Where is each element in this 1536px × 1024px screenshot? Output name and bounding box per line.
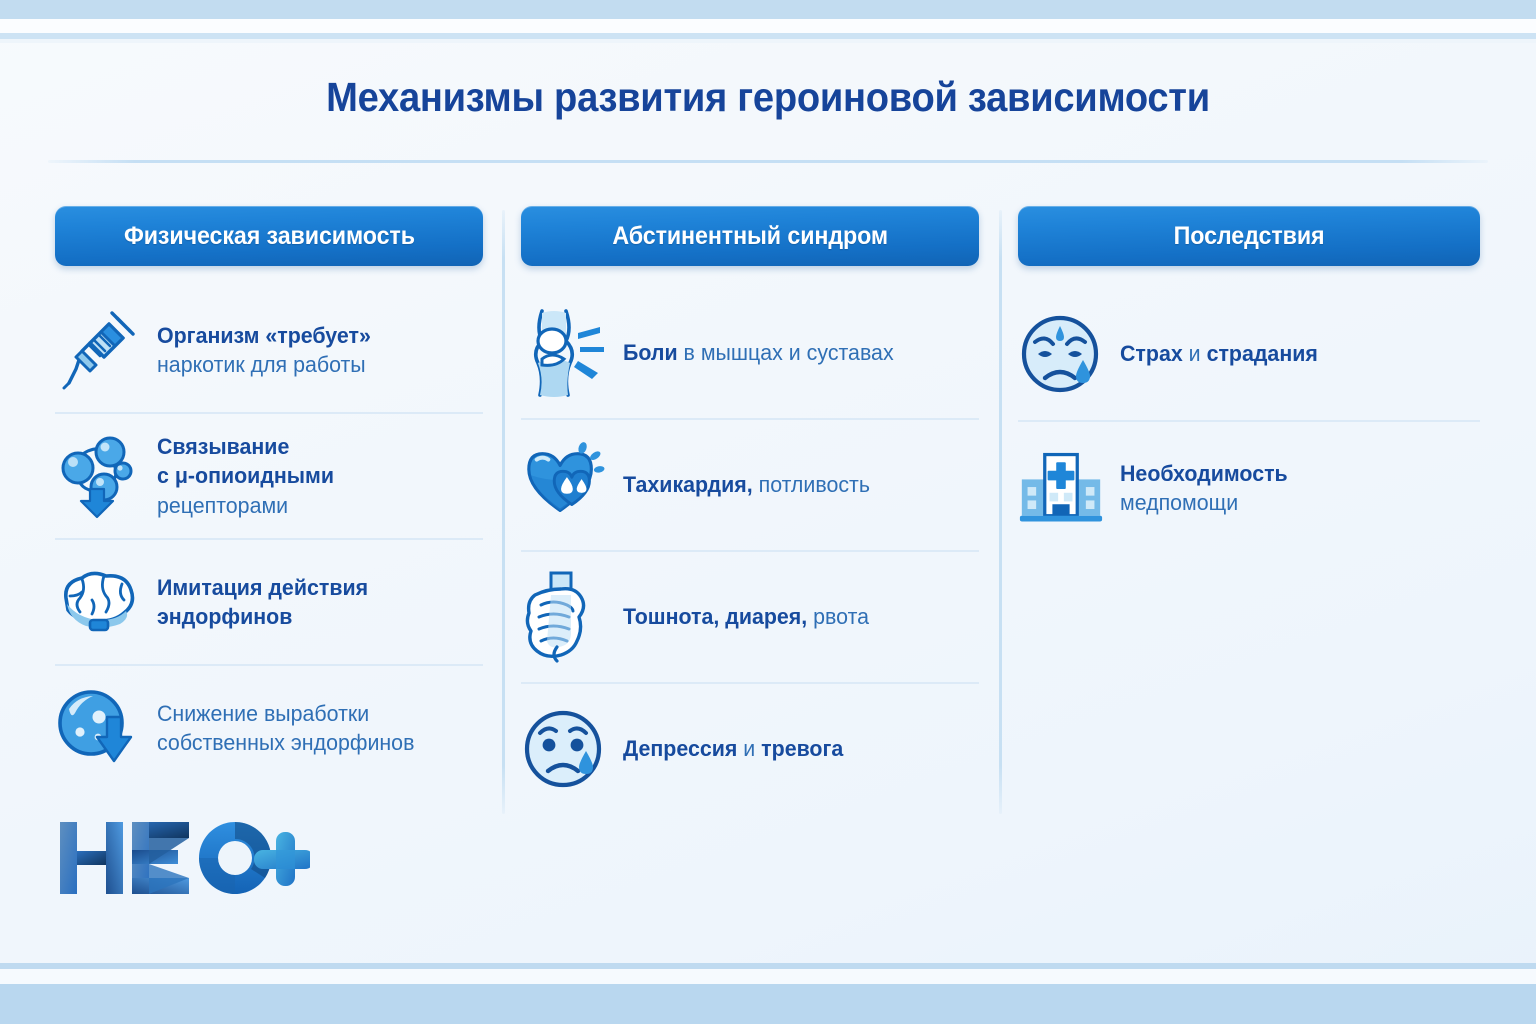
columns-container: Физическая зависимость (0, 206, 1536, 826)
list-item-text: Организм «требует» наркотик для работы (157, 321, 371, 380)
list-item-emph-2: тревога (761, 736, 843, 761)
brain-icon (55, 556, 141, 648)
column-heading-label: Последствия (1174, 222, 1325, 251)
list-item-text: Имитация действия эндорфинов (157, 573, 368, 632)
hospital-icon (1018, 442, 1104, 534)
heart-sweat-icon (521, 439, 607, 531)
infographic-page: Механизмы развития героиновой зависимост… (0, 0, 1536, 1024)
list-item-tail: в мышцах и суставах (678, 340, 894, 365)
list-item-text: Боли в мышцах и суставах (623, 338, 894, 367)
list-item[interactable]: Тошнота, диарея, рвота (521, 550, 979, 682)
top-band-accent (0, 33, 1536, 39)
list-item-line-1: Имитация действия (157, 575, 368, 600)
list-item-text: Страх и страдания (1120, 339, 1318, 368)
list-item[interactable]: Снижение выработки собственных эндорфино… (55, 664, 483, 790)
top-band-fade (0, 39, 1536, 43)
item-list-physical-dependence: Организм «требует» наркотик для работы (55, 288, 483, 790)
list-item-line-1: Снижение выработки (157, 701, 369, 726)
page-title: Механизмы развития героиновой зависимост… (54, 74, 1482, 121)
list-item-line-1: Необходимость (1120, 461, 1288, 486)
list-item-line-2: с μ-опиоидными (157, 463, 334, 488)
column-separator-2 (999, 210, 1002, 814)
column-consequences: Последствия (1018, 206, 1480, 554)
list-item[interactable]: Боли в мышцах и суставах (521, 288, 979, 418)
list-item-tail: потливость (753, 472, 870, 497)
list-item-line-2: собственных эндорфинов (157, 730, 414, 755)
list-item-emph: Страх (1120, 341, 1183, 366)
joint-pain-icon (521, 307, 607, 399)
list-item-text: Снижение выработки собственных эндорфино… (157, 699, 414, 758)
list-item-line-2: эндорфинов (157, 604, 292, 629)
list-item-line-1: Организм «требует» (157, 323, 371, 348)
syringe-icon (55, 304, 141, 396)
list-item-line-2: медпомощи (1120, 490, 1238, 515)
worried-face-tear-icon (1018, 308, 1104, 400)
column-heading-label: Физическая зависимость (123, 222, 414, 251)
list-item-text: Связывание с μ-опиоидными рецепторами (157, 432, 334, 520)
list-item[interactable]: Необходимость медпомощи (1018, 420, 1480, 554)
list-item-emph-2: страдания (1207, 341, 1318, 366)
bottom-band-white (0, 969, 1536, 984)
top-band-white (0, 19, 1536, 33)
decline-sphere-arrow-icon (55, 682, 141, 774)
intestines-icon (521, 571, 607, 663)
column-heading-withdrawal-syndrome[interactable]: Абстинентный синдром (521, 206, 979, 266)
list-item-emph: Тахикардия, (623, 472, 753, 497)
list-item-line-1: Связывание (157, 434, 289, 459)
list-item-text: Тахикардия, потливость (623, 470, 870, 499)
column-heading-consequences[interactable]: Последствия (1018, 206, 1480, 266)
column-heading-label: Абстинентный синдром (612, 222, 888, 251)
sad-face-tear-icon (521, 703, 607, 795)
list-item-text: Необходимость медпомощи (1120, 459, 1288, 518)
title-divider (48, 160, 1488, 163)
bottom-band-accent (0, 963, 1536, 969)
column-withdrawal-syndrome: Абстинентный синдром (521, 206, 979, 814)
list-item-line-2: наркотик для работы (157, 352, 366, 377)
page-title-wrap: Механизмы развития героиновой зависимост… (0, 74, 1536, 121)
list-item-tail: и (1183, 341, 1207, 366)
bottom-band-primary (0, 984, 1536, 1024)
list-item[interactable]: Имитация действия эндорфинов (55, 538, 483, 664)
list-item-emph: Тошнота, диарея, (623, 604, 807, 629)
molecule-binding-icon (55, 430, 141, 522)
neo-plus-logo[interactable] (60, 818, 310, 898)
list-item[interactable]: Страх и страдания (1018, 288, 1480, 420)
list-item-line-3: рецепторами (157, 493, 288, 518)
list-item-tail: и (737, 736, 761, 761)
column-heading-physical-dependence[interactable]: Физическая зависимость (55, 206, 483, 266)
top-band-primary (0, 0, 1536, 19)
list-item-emph: Депрессия (623, 736, 737, 761)
list-item[interactable]: Депрессия и тревога (521, 682, 979, 814)
list-item[interactable]: Связывание с μ-опиоидными рецепторами (55, 412, 483, 538)
column-physical-dependence: Физическая зависимость (55, 206, 483, 790)
list-item[interactable]: Организм «требует» наркотик для работы (55, 288, 483, 412)
list-item[interactable]: Тахикардия, потливость (521, 418, 979, 550)
list-item-text: Депрессия и тревога (623, 734, 843, 763)
list-item-tail: рвота (807, 604, 869, 629)
column-separator-1 (502, 210, 505, 814)
item-list-withdrawal-syndrome: Боли в мышцах и суставах (521, 288, 979, 814)
list-item-text: Тошнота, диарея, рвота (623, 602, 869, 631)
item-list-consequences: Страх и страдания (1018, 288, 1480, 554)
list-item-emph: Боли (623, 340, 678, 365)
